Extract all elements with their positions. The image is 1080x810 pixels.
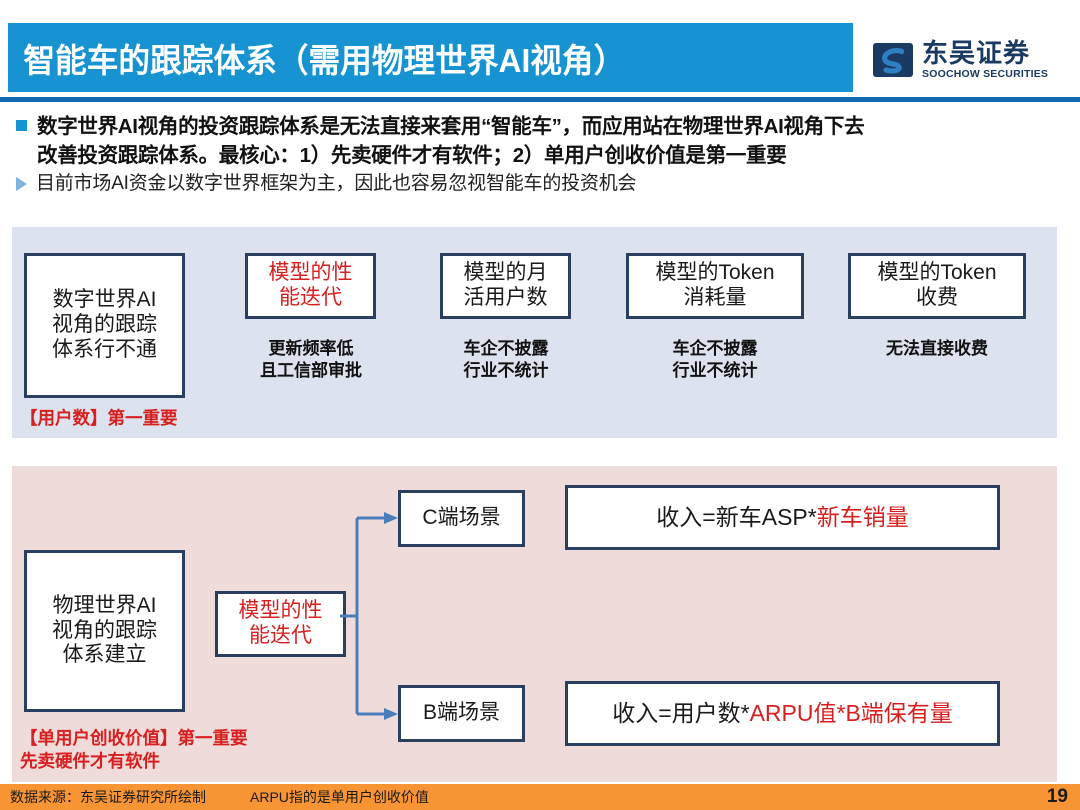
formula-box-consumer: 收入=新车ASP*新车销量 xyxy=(565,485,1000,550)
bullet-secondary-line1: 目前市场AI资金以数字世界框架为主，因此也容易忽视智能车的投资机会 xyxy=(36,171,636,198)
physical-key-label-line1: 【单用户创收价值】第一重要 xyxy=(20,727,248,750)
triangle-bullet-icon xyxy=(16,177,27,191)
bullet-item-primary: 数字世界AI视角的投资跟踪体系是无法直接来套用“智能车”，而应用站在物理世界AI… xyxy=(10,112,1070,170)
page-title: 智能车的跟踪体系（需用物理世界AI视角） xyxy=(8,34,625,82)
bullet-primary-text: 数字世界AI视角的投资跟踪体系是无法直接来套用“智能车”，而应用站在物理世界AI… xyxy=(37,112,864,170)
slide-title-bar: 智能车的跟踪体系（需用物理世界AI视角） xyxy=(8,23,853,92)
physical-driver-box-label: 模型的性 能迭代 xyxy=(239,599,323,649)
slide-footer: 数据来源：东吴证券研究所绘制 ARPU指的是单用户创收价值 19 xyxy=(0,784,1080,810)
formula-business-red: ARPU值*B端保有量 xyxy=(750,700,953,726)
logo-name-cn: 东吴证券 xyxy=(922,40,1048,66)
formula-business-black: 收入=用户数* xyxy=(612,700,749,726)
scene-box-consumer: C端场景 xyxy=(398,490,525,547)
metric-caption-mau: 车企不披露 行业不统计 xyxy=(420,338,592,382)
physical-anchor-box: 物理世界AI 视角的跟踪 体系建立 xyxy=(24,550,185,712)
logo-wordmark: 东吴证券 SOOCHOW SECURITIES xyxy=(922,40,1048,80)
digital-key-label: 【用户数】第一重要 xyxy=(20,407,178,430)
formula-consumer-text: 收入=新车ASP*新车销量 xyxy=(656,504,908,531)
footer-note: ARPU指的是单用户创收价值 xyxy=(250,787,429,807)
soochow-logo-icon xyxy=(872,39,914,81)
bullet-primary-line1: 数字世界AI视角的投资跟踪体系是无法直接来套用“智能车”，而应用站在物理世界AI… xyxy=(37,112,864,141)
metric-box-token-consumption: 模型的Token 消耗量 xyxy=(626,253,804,319)
bullet-list: 数字世界AI视角的投资跟踪体系是无法直接来套用“智能车”，而应用站在物理世界AI… xyxy=(10,112,1070,198)
metric-box-performance-iteration-label: 模型的性 能迭代 xyxy=(269,261,353,311)
formula-business-text: 收入=用户数*ARPU值*B端保有量 xyxy=(612,700,953,727)
formula-consumer-black: 收入=新车ASP* xyxy=(656,504,816,530)
metric-caption-performance-iteration: 更新频率低 且工信部审批 xyxy=(225,338,397,382)
logo-name-en: SOOCHOW SECURITIES xyxy=(922,69,1048,80)
formula-box-business: 收入=用户数*ARPU值*B端保有量 xyxy=(565,681,1000,746)
metric-box-token-consumption-label: 模型的Token 消耗量 xyxy=(655,261,774,311)
bullet-item-secondary: 目前市场AI资金以数字世界框架为主，因此也容易忽视智能车的投资机会 xyxy=(10,170,1070,198)
page-number: 19 xyxy=(1047,786,1068,808)
scene-box-consumer-label: C端场景 xyxy=(422,506,500,531)
square-bullet-icon xyxy=(16,120,27,131)
scene-box-business-label: B端场景 xyxy=(423,701,500,726)
physical-key-label: 【单用户创收价值】第一重要 先卖硬件才有软件 xyxy=(20,727,248,773)
physical-key-label-line2: 先卖硬件才有软件 xyxy=(20,750,248,773)
metric-box-token-billing: 模型的Token 收费 xyxy=(848,253,1026,319)
digital-anchor-box: 数字世界AI 视角的跟踪 体系行不通 xyxy=(24,253,185,398)
formula-consumer-red: 新车销量 xyxy=(817,504,909,530)
bullet-primary-line2: 改善投资跟踪体系。最核心：1）先卖硬件才有软件；2）单用户创收价值是第一重要 xyxy=(37,141,864,170)
header-divider xyxy=(0,97,1080,102)
metric-box-mau: 模型的月 活用户数 xyxy=(440,253,571,319)
physical-driver-box: 模型的性 能迭代 xyxy=(215,591,346,657)
metric-caption-token-billing: 无法直接收费 xyxy=(849,338,1025,360)
metric-caption-token-consumption: 车企不披露 行业不统计 xyxy=(629,338,801,382)
metric-box-mau-label: 模型的月 活用户数 xyxy=(464,261,548,311)
digital-anchor-box-label: 数字世界AI 视角的跟踪 体系行不通 xyxy=(52,288,157,362)
scene-box-business: B端场景 xyxy=(398,685,525,742)
metric-box-performance-iteration: 模型的性 能迭代 xyxy=(245,253,376,319)
physical-anchor-box-label: 物理世界AI 视角的跟踪 体系建立 xyxy=(52,594,157,668)
footer-source: 数据来源：东吴证券研究所绘制 xyxy=(10,787,206,807)
metric-box-token-billing-label: 模型的Token 收费 xyxy=(877,261,996,311)
company-logo: 东吴证券 SOOCHOW SECURITIES xyxy=(872,36,1072,84)
